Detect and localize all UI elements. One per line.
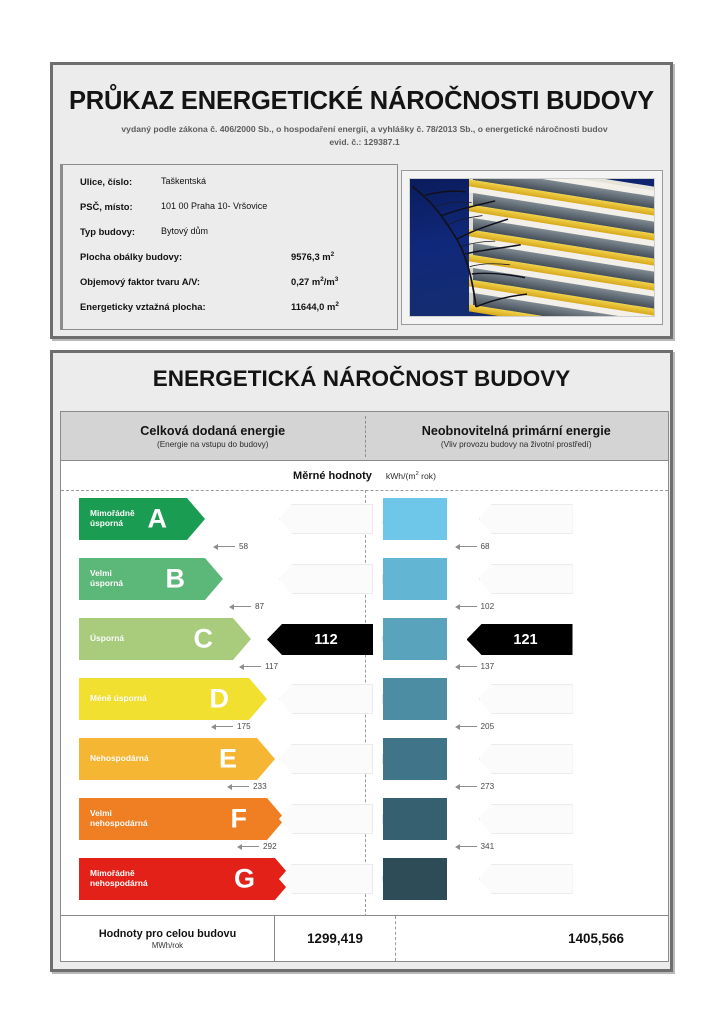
primary-row-3: 121 137 [365,618,669,674]
class-band-label: Úsporná [90,634,124,644]
class-letter-c: C [194,624,214,655]
info-value: 101 00 Praha 10- Vršovice [161,201,267,211]
threshold-d-e: 175 [211,722,251,731]
primary-block-5 [383,738,447,780]
primary-row-1: 68 [365,498,669,554]
info-value: 11644,0 m2 [291,301,339,312]
class-band-label: Mimořádně nehospodárná [90,869,148,889]
threshold-value: 102 [481,602,495,611]
certificate-header-card: PRŮKAZ ENERGETICKÉ NÁROČNOSTI BUDOVY vyd… [50,62,673,339]
info-row-postcode-city: PSČ, místo: 101 00 Praha 10- Vršovice [80,201,133,215]
threshold-value: 273 [481,782,495,791]
value-placeholder-g [279,864,373,894]
threshold-value: 68 [481,542,490,551]
threshold-value: 175 [237,722,251,731]
threshold-arrow-icon [227,784,249,790]
class-letter-e: E [219,744,237,775]
threshold-f-g: 292 [237,842,277,851]
info-label: Ulice, číslo: [80,176,132,187]
value-placeholder-e [279,744,373,774]
class-band-c: Úsporná C [79,618,251,660]
column-title: Neobnovitelná primární energie [422,424,611,438]
primary-value-placeholder-5 [479,744,573,774]
energy-scale-table: Celková dodaná energie (Energie na vstup… [60,411,669,962]
class-band-d: Méně úsporná D [79,678,267,720]
measure-values-row: Měrné hodnoty kWh/(m2 rok) [61,461,668,490]
primary-row-6: 341 [365,798,669,854]
primary-block-6 [383,798,447,840]
threshold-arrow-icon [239,664,261,670]
primary-energy-scale: 68 102 121 [365,490,669,917]
result-value: 112 [314,632,337,648]
threshold-arrow-icon [455,664,477,670]
class-band-label: Nehospodárná [90,754,149,764]
info-row-envelope-area: Plocha obálky budovy: 9576,3 m2 [80,251,182,265]
primary-row-5: 273 [365,738,669,794]
energy-performance-certificate-page: PRŮKAZ ENERGETICKÉ NÁROČNOSTI BUDOVY vyd… [0,0,723,1024]
info-row-reference-area: Energeticky vztažná plocha: 11644,0 m2 [80,301,206,315]
threshold-value: 233 [253,782,267,791]
primary-threshold-2: 102 [455,602,495,611]
info-row-street: Ulice, číslo: Taškentská [80,176,132,190]
building-photo [409,178,655,317]
totals-delivered-value: 1299,419 [275,916,396,961]
threshold-arrow-icon [455,784,477,790]
info-label: PSČ, místo: [80,201,133,212]
info-row-shape-factor: Objemový faktor tvaru A/V: 0,27 m2/m3 [80,276,200,290]
primary-row-4: 205 [365,678,669,734]
header-column-divider [365,416,366,457]
primary-threshold-4: 205 [455,722,495,731]
column-subtitle: (Vliv provozu budovy na životní prostřed… [441,440,592,449]
energy-performance-card: ENERGETICKÁ NÁROČNOST BUDOVY Celková dod… [50,350,673,972]
threshold-c-d: 117 [239,662,278,671]
totals-label: Hodnoty pro celou budovu [99,928,236,940]
primary-row-2: 102 [365,558,669,614]
primary-block-3 [383,618,447,660]
threshold-arrow-icon [455,844,477,850]
delivered-energy-scale: Mimořádně úsporná A A 58 Velmi úsporná B [61,490,365,917]
column-title: Celková dodaná energie [140,424,285,438]
class-band-label: Velmi nehospodárná [90,809,148,829]
totals-primary-value: 1405,566 [396,916,668,961]
totals-unit: MWh/rok [152,941,183,950]
building-info-box: Ulice, číslo: Taškentská PSČ, místo: 101… [60,164,398,330]
class-band-a: Mimořádně úsporná A [79,498,205,540]
primary-threshold-1: 68 [455,542,490,551]
energy-section-title: ENERGETICKÁ NÁROČNOST BUDOVY [53,366,670,392]
document-subtitle: vydaný podle zákona č. 406/2000 Sb., o h… [81,123,648,150]
scale-row-e: Nehospodárná E E 233 [61,738,365,794]
totals-label-cell: Hodnoty pro celou budovu MWh/rok [61,916,275,961]
info-value: 9576,3 m2 [291,251,334,262]
threshold-value: 87 [255,602,264,611]
primary-value-placeholder-6 [479,804,573,834]
tree-branches-graphic [410,179,527,316]
info-value: Bytový dům [161,226,208,236]
registration-number: evid. č.: 129387.1 [329,137,399,147]
value-placeholder-f [279,804,373,834]
threshold-e-f: 233 [227,782,267,791]
scale-row-g: Mimořádně nehospodárná G G [61,858,365,908]
whole-building-totals-row: Hodnoty pro celou budovu MWh/rok 1299,41… [61,915,668,961]
primary-block-2 [383,558,447,600]
measure-label: Měrné hodnoty [293,470,372,482]
primary-value-placeholder-1 [479,504,573,534]
threshold-arrow-icon [211,724,233,730]
threshold-value: 341 [481,842,495,851]
threshold-arrow-icon [455,604,477,610]
value-placeholder-a [279,504,373,534]
primary-threshold-6: 341 [455,842,495,851]
class-band-label: Velmi úsporná [90,569,123,589]
class-letter-f: F [231,804,248,835]
scale-row-a: Mimořádně úsporná A A 58 [61,498,365,554]
threshold-a-b: 58 [213,542,248,551]
primary-threshold-5: 273 [455,782,495,791]
result-value: 121 [513,632,537,648]
threshold-value: 205 [481,722,495,731]
class-band-g: Mimořádně nehospodárná G [79,858,293,900]
scale-row-f: Velmi nehospodárná F F 292 [61,798,365,854]
threshold-arrow-icon [237,844,259,850]
primary-block-1 [383,498,447,540]
info-value: 0,27 m2/m3 [291,276,338,287]
measure-unit: kWh/(m2 rok) [386,471,436,481]
primary-threshold-3: 137 [455,662,495,671]
threshold-arrow-icon [213,544,235,550]
scale-row-d: Méně úsporná D D 175 [61,678,365,734]
value-placeholder-b [279,564,373,594]
threshold-value: 137 [481,662,495,671]
class-band-label: Méně úsporná [90,694,147,704]
column-header-primary-energy: Neobnovitelná primární energie (Vliv pro… [365,412,669,460]
primary-value-placeholder-7 [479,864,573,894]
class-band-label: Mimořádně úsporná [90,509,135,529]
threshold-value: 292 [263,842,277,851]
page-title: PRŮKAZ ENERGETICKÉ NÁROČNOSTI BUDOVY [53,87,670,116]
info-row-building-type: Typ budovy: Bytový dům [80,226,135,240]
delivered-energy-result-pointer: 112 [267,624,373,655]
threshold-value: 58 [239,542,248,551]
energy-table-header: Celková dodaná energie (Energie na vstup… [61,412,668,461]
class-band-f: Velmi nehospodárná F [79,798,285,840]
class-letter-g: G [234,864,255,895]
primary-value-placeholder-4 [479,684,573,714]
legal-basis-text: vydaný podle zákona č. 406/2000 Sb., o h… [121,124,607,134]
primary-block-4 [383,678,447,720]
column-subtitle: (Energie na vstupu do budovy) [157,440,269,449]
info-label: Energeticky vztažná plocha: [80,301,206,312]
value-placeholder-d [279,684,373,714]
info-label: Plocha obálky budovy: [80,251,182,262]
primary-energy-result-pointer: 121 [467,624,573,655]
primary-row-7 [365,858,669,908]
column-header-delivered-energy: Celková dodaná energie (Energie na vstup… [61,412,365,460]
scale-row-b: Velmi úsporná B B 87 [61,558,365,614]
threshold-arrow-icon [229,604,251,610]
scale-row-c: Úsporná C 112 C 117 [61,618,365,674]
class-band-b: Velmi úsporná B [79,558,223,600]
threshold-arrow-icon [455,724,477,730]
info-label: Objemový faktor tvaru A/V: [80,276,200,287]
class-band-e: Nehospodárná E [79,738,275,780]
info-label: Typ budovy: [80,226,135,237]
building-photo-frame [401,170,663,325]
info-value: Taškentská [161,176,206,186]
class-letter-b: B [166,564,186,595]
threshold-arrow-icon [455,544,477,550]
primary-value-placeholder-2 [479,564,573,594]
threshold-value: 117 [265,662,278,671]
class-letter-a: A [148,504,168,535]
primary-block-7 [383,858,447,900]
threshold-b-c: 87 [229,602,264,611]
class-letter-d: D [210,684,230,715]
